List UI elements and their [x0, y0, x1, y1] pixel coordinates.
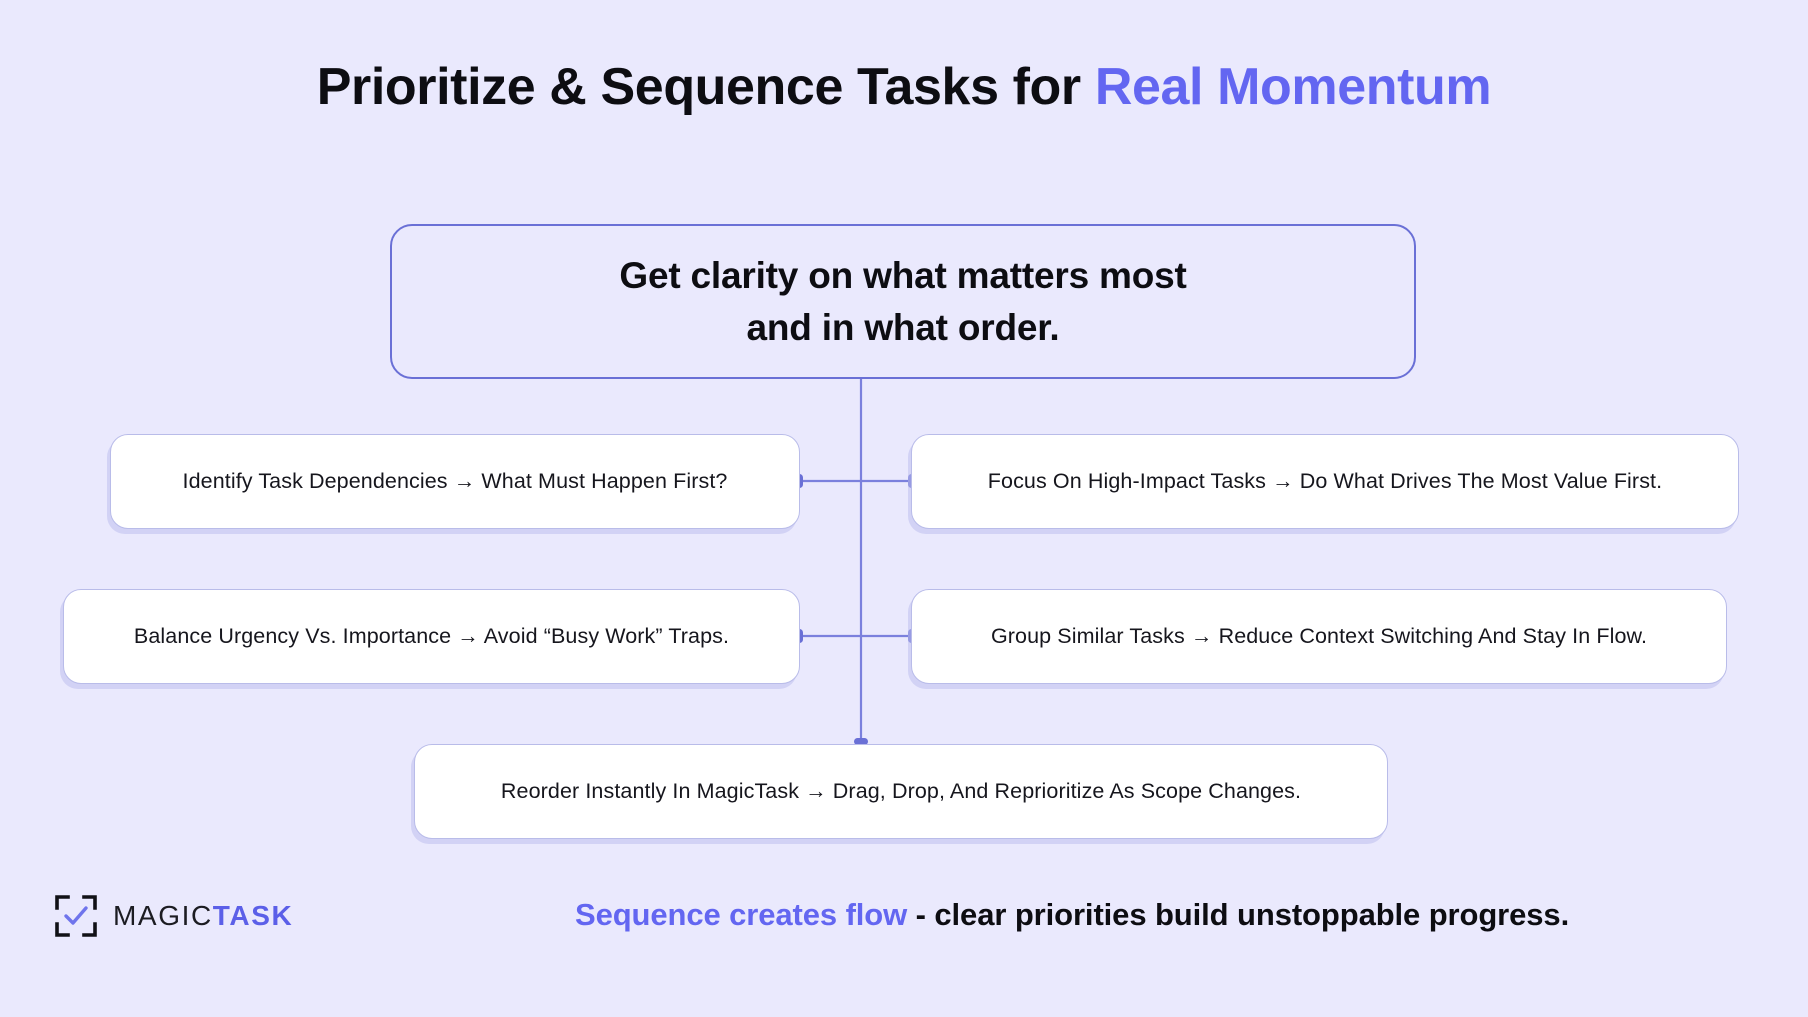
root-card: Get clarity on what matters most and in …	[390, 224, 1416, 379]
node-card-label: Focus On High-Impact Tasks → Do What Dri…	[912, 468, 1738, 496]
footer-tagline-accent: Sequence creates flow	[575, 897, 907, 932]
node-card-balance-urgency-vs-importance: Balance Urgency Vs. Importance → Avoid “…	[63, 589, 800, 684]
node-card-identify-task-dependencies: Identify Task Dependencies → What Must H…	[110, 434, 800, 529]
root-card-line1: Get clarity on what matters most	[619, 255, 1186, 296]
brand-logo: MAGICTASK	[55, 895, 293, 937]
brand-wordmark-task: TASK	[213, 900, 294, 932]
node-card-focus-on-high-impact-tasks: Focus On High-Impact Tasks → Do What Dri…	[911, 434, 1739, 529]
checkbox-bracket-icon	[55, 895, 97, 937]
footer: MAGICTASK Sequence creates flow - clear …	[0, 867, 1808, 1017]
node-card-label: Balance Urgency Vs. Importance → Avoid “…	[64, 623, 799, 651]
node-card-reorder-instantly-in-magictask: Reorder Instantly In MagicTask → Drag, D…	[414, 744, 1388, 839]
root-card-line2: and in what order.	[747, 307, 1060, 348]
node-card-group-similar-tasks: Group Similar Tasks → Reduce Context Swi…	[911, 589, 1727, 684]
root-card-text: Get clarity on what matters most and in …	[392, 250, 1414, 352]
connector-nubs	[796, 474, 915, 745]
footer-tagline: Sequence creates flow - clear priorities…	[575, 897, 1569, 933]
footer-tagline-rest: - clear priorities build unstoppable pro…	[907, 897, 1569, 932]
node-card-label: Identify Task Dependencies → What Must H…	[111, 468, 799, 496]
node-card-label: Reorder Instantly In MagicTask → Drag, D…	[415, 778, 1387, 806]
brand-wordmark: MAGICTASK	[113, 900, 293, 932]
brand-wordmark-magic: MAGIC	[113, 900, 213, 932]
node-card-label: Group Similar Tasks → Reduce Context Swi…	[912, 623, 1726, 651]
flow-diagram: Get clarity on what matters most and in …	[0, 0, 1808, 1017]
